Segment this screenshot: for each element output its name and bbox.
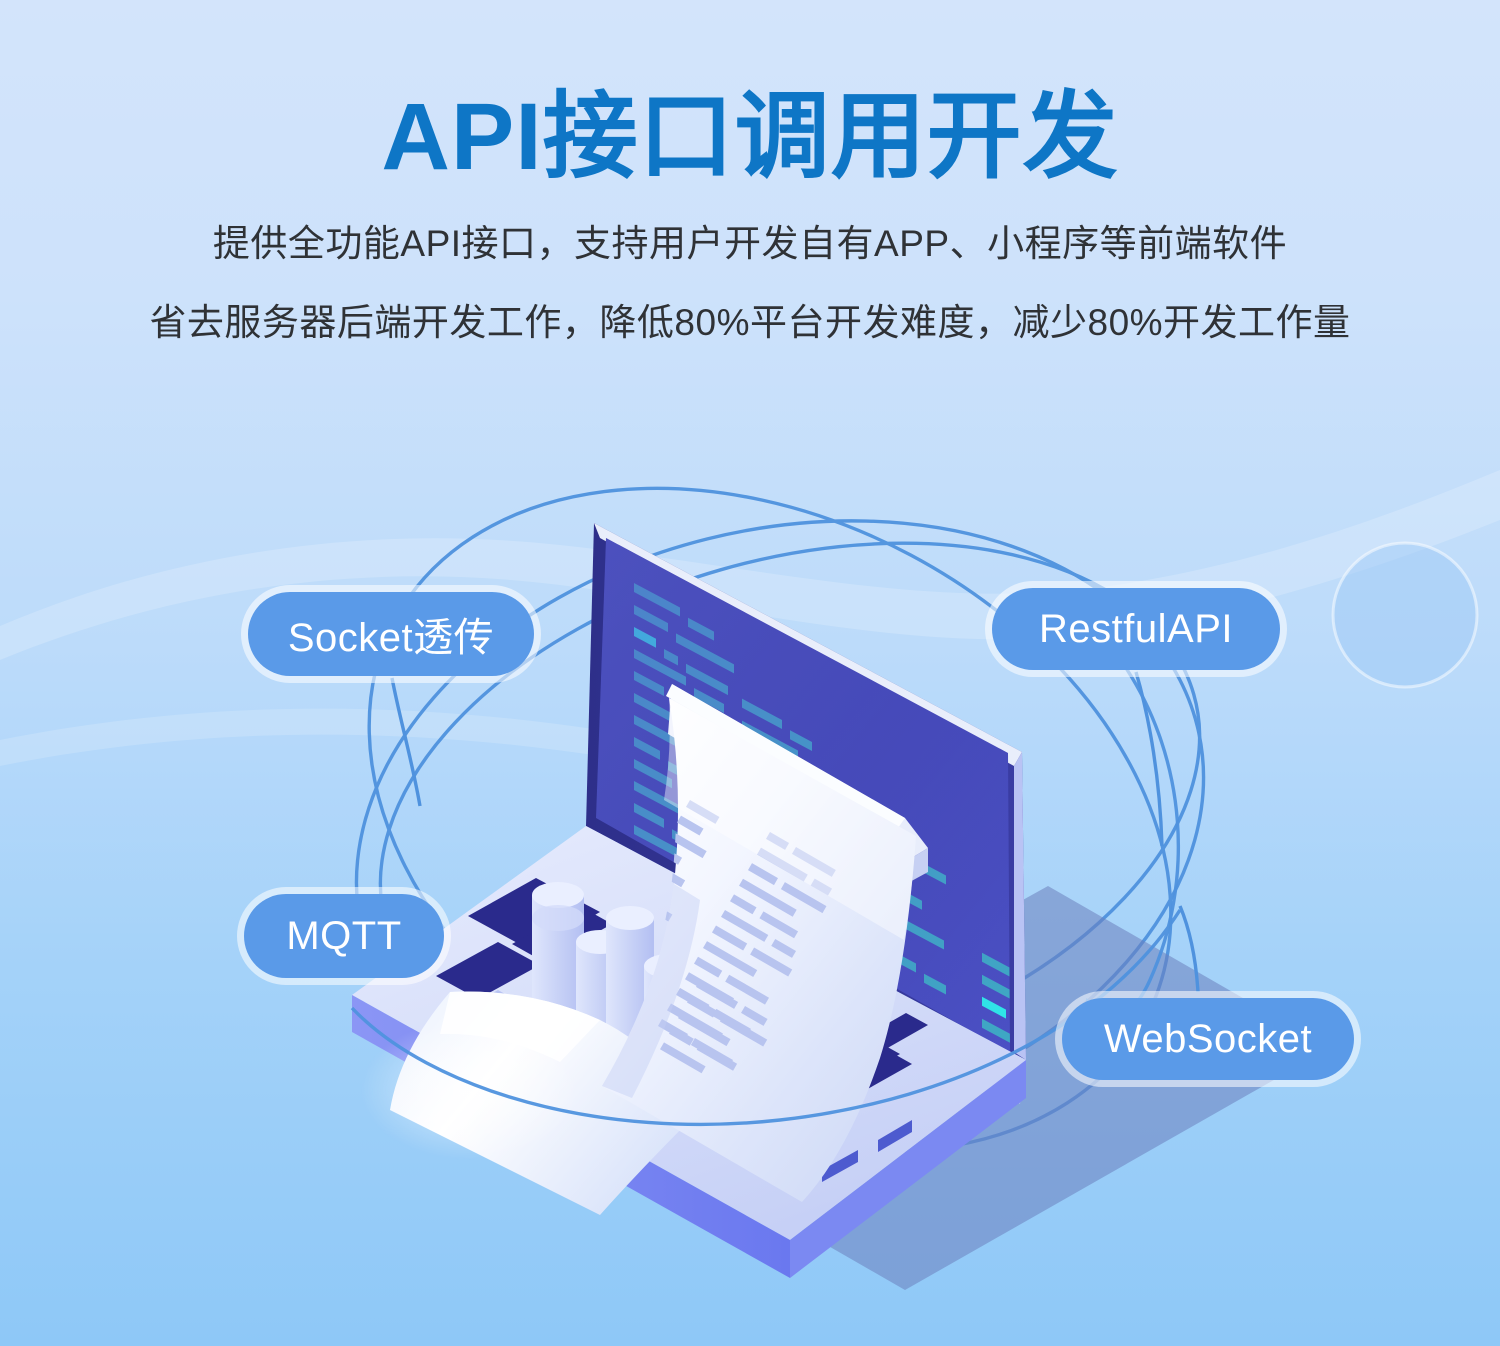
subtitle-line-2: 省去服务器后端开发工作，降低80%平台开发难度，减少80%开发工作量	[0, 262, 1500, 341]
page-title: API接口调用开发	[0, 0, 1500, 187]
badge-websocket[interactable]: WebSocket	[1062, 998, 1354, 1080]
header: API接口调用开发 提供全功能API接口，支持用户开发自有APP、小程序等前端软…	[0, 0, 1500, 341]
badge-mqtt[interactable]: MQTT	[244, 894, 444, 978]
promo-banner: API接口调用开发 提供全功能API接口，支持用户开发自有APP、小程序等前端软…	[0, 0, 1500, 1346]
subtitle-line-1: 提供全功能API接口，支持用户开发自有APP、小程序等前端软件	[0, 187, 1500, 262]
badge-socket[interactable]: Socket透传	[248, 592, 534, 676]
badge-restfulapi[interactable]: RestfulAPI	[992, 588, 1280, 670]
